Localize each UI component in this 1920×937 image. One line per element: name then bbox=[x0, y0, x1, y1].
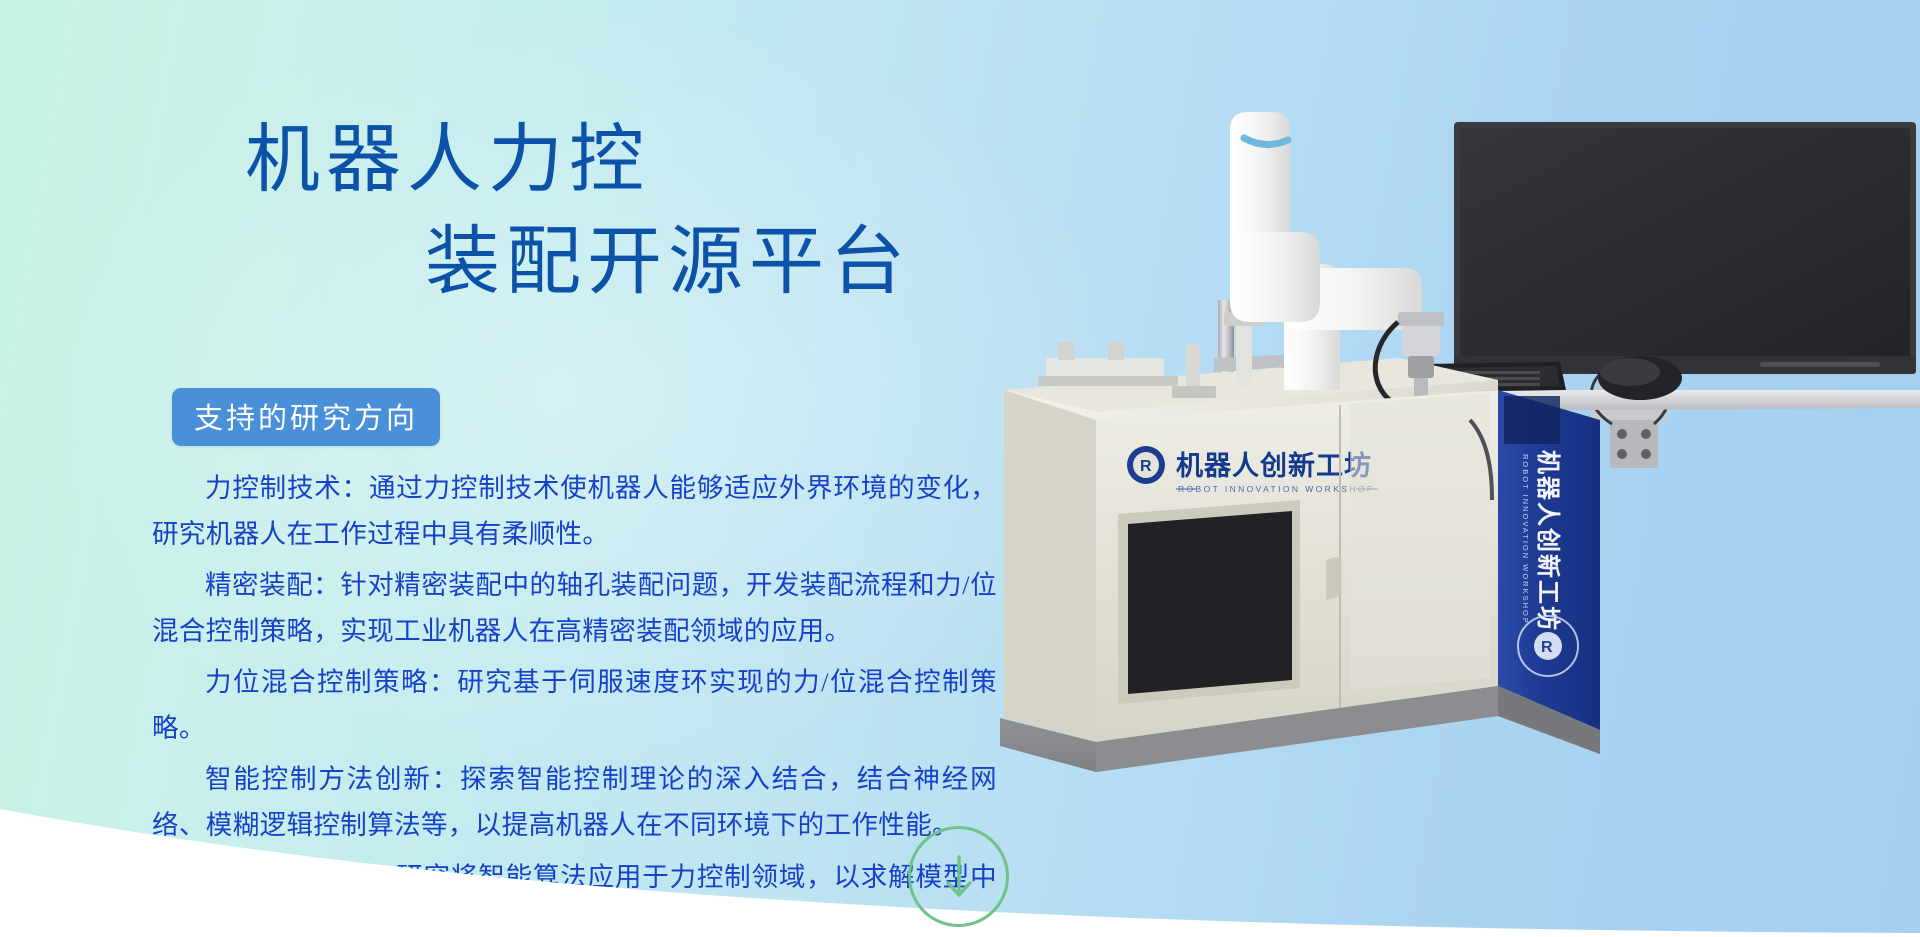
arrow-down-icon bbox=[942, 851, 976, 903]
svg-text:R: R bbox=[1541, 639, 1553, 656]
machine-illustration: ThinkVision bbox=[1000, 90, 1920, 810]
svg-text:ROBOT INNOVATION WORKSHOP: ROBOT INNOVATION WORKSHOP bbox=[1178, 484, 1375, 494]
title-line-2: 装配开源平台 bbox=[0, 212, 1000, 314]
side-panel-text: 机器人创新工坊 ROBOT INNOVATION WORKSHOP bbox=[1521, 450, 1562, 632]
monitor: ThinkVision bbox=[1454, 122, 1916, 374]
svg-text:机器人创新工坊: 机器人创新工坊 bbox=[1534, 450, 1562, 632]
title-line-1: 机器人力控 bbox=[0, 110, 1000, 212]
research-directions-badge: 支持的研究方向 bbox=[172, 388, 440, 446]
page-title: 机器人力控 装配开源平台 bbox=[0, 110, 1000, 314]
scroll-down-button[interactable] bbox=[908, 826, 1009, 927]
cabinet-body bbox=[1004, 390, 1096, 742]
list-item: 力控制技术：通过力控制技术使机器人能够适应外界环境的变化，研究机器人在工作过程中… bbox=[152, 466, 997, 557]
svg-text:R: R bbox=[1140, 458, 1152, 475]
list-item: 力位混合控制策略：研究基于伺服速度环实现的力/位混合控制策略。 bbox=[152, 660, 997, 751]
hero-banner: ThinkVision bbox=[0, 0, 1920, 937]
svg-text:机器人创新工坊: 机器人创新工坊 bbox=[1176, 450, 1372, 481]
svg-text:ROBOT INNOVATION WORKSHOP: ROBOT INNOVATION WORKSHOP bbox=[1521, 454, 1530, 625]
list-item: 精密装配：针对精密装配中的轴孔装配问题，开发装配流程和力/位混合控制策略，实现工… bbox=[152, 563, 997, 654]
